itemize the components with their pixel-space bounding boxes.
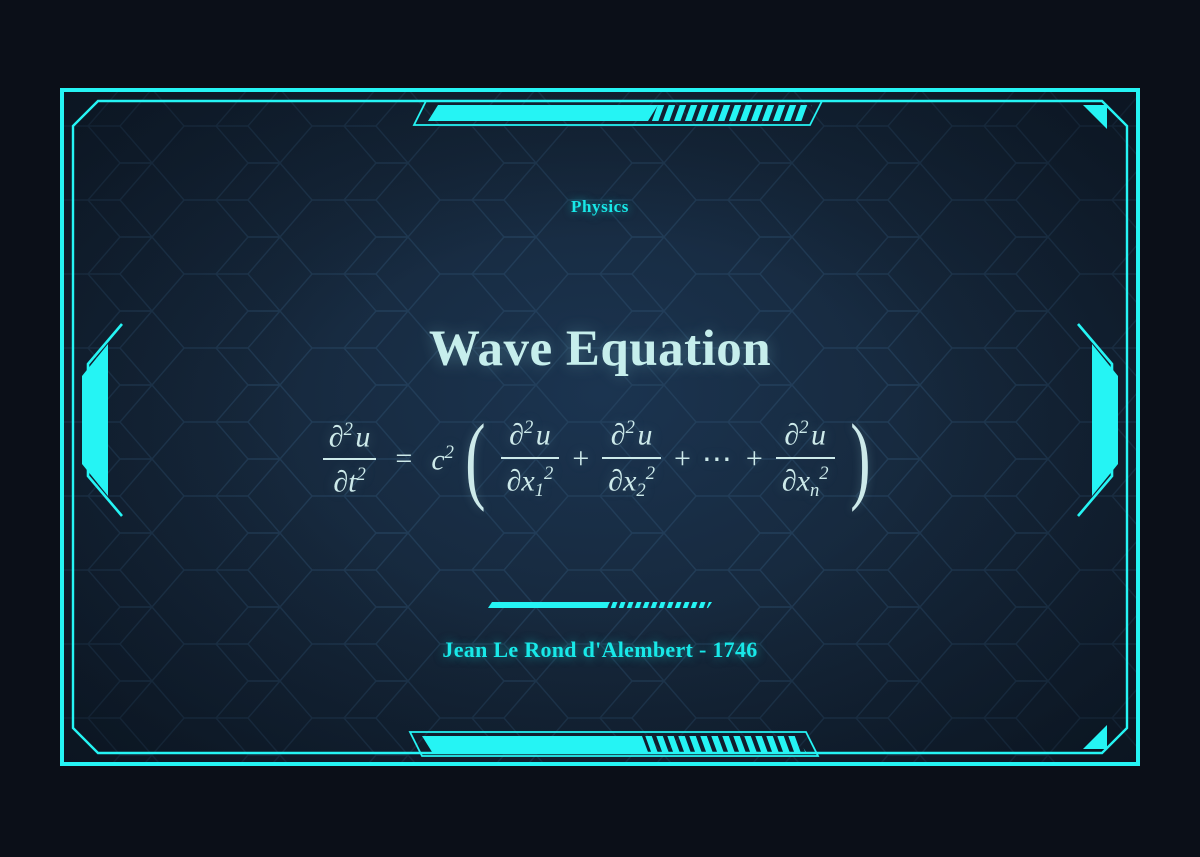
fraction-bar [323,458,377,460]
lhs-numerator: ∂2 u [323,418,377,456]
equation-open-paren: ( [465,434,485,485]
fraction-bar [776,457,835,459]
term-n-numerator: ∂2 u [778,416,832,454]
hud-divider-icon [486,599,714,611]
term-2-denominator: ∂x22 [602,462,661,503]
equation-coefficient: c2 [431,442,454,478]
fraction-bar [501,457,560,459]
equation-term-2: ∂2 u ∂x22 [602,416,661,503]
term-1-denominator: ∂x12 [501,462,560,503]
equation-lhs-fraction: ∂2 u ∂t2 [323,418,377,502]
equation-relation: = [395,442,412,476]
fraction-bar [602,457,661,459]
equation-display: ∂2 u ∂t2 = c2 ( ∂2 u ∂x12 + ∂2 u ∂x22 + … [319,416,881,503]
equation-plus-1: + [572,442,589,476]
card-content: Physics Wave Equation ∂2 u ∂t2 = c2 ( ∂2… [64,92,1136,762]
category-label: Physics [571,197,629,217]
equation-plus-2: + [674,442,691,476]
equation-term-n: ∂2 u ∂xn2 [776,416,835,503]
equation-ellipsis: ⋯ [702,442,735,477]
page-title: Wave Equation [429,320,771,378]
term-n-denominator: ∂xn2 [776,462,835,503]
equation-term-1: ∂2 u ∂x12 [501,416,560,503]
term-2-numerator: ∂2 u [605,416,659,454]
attribution-label: Jean Le Rond d'Alembert - 1746 [442,637,757,663]
equation-plus-3: + [746,442,763,476]
term-1-numerator: ∂2 u [503,416,557,454]
equation-close-paren: ) [850,434,870,485]
lhs-denominator: ∂t2 [327,463,371,501]
